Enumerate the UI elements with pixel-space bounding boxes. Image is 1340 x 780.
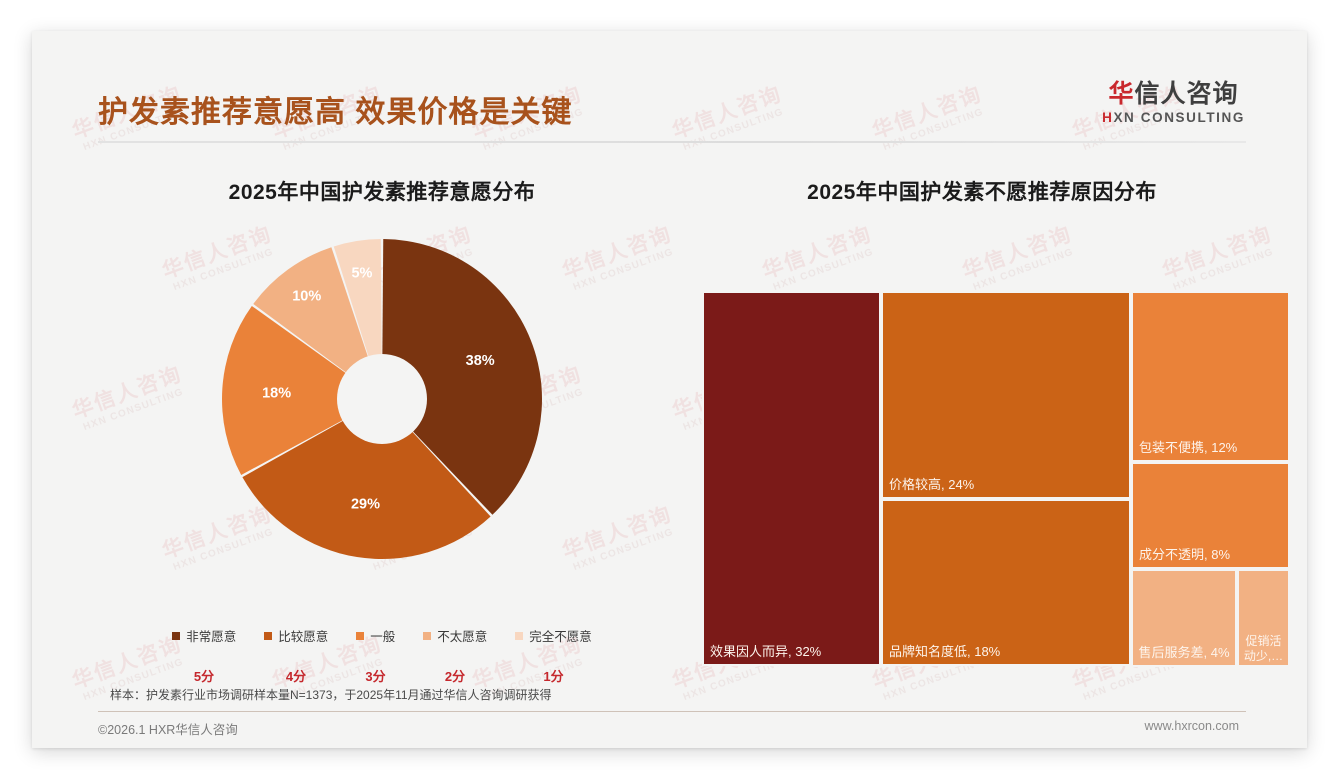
treemap-chart: 效果因人而异, 32%价格较高, 24%品牌知名度低, 18%包装不便携, 12… (702, 291, 1290, 666)
legend-item[interactable]: 比较愿意 (264, 626, 328, 645)
copyright-text: ©2026.1 HXR华信人咨询 (98, 719, 238, 738)
header-divider (98, 141, 1246, 143)
treemap-cell-label: 价格较高, 24% (889, 477, 1125, 493)
logo-en-h: H (1102, 110, 1113, 125)
right-chart-panel: 2025年中国护发素不愿推荐原因分布 效果因人而异, 32%价格较高, 24%品… (682, 176, 1282, 696)
sample-footnote: 样本：护发素行业市场调研样本量N=1373，于2025年11月通过华信人咨询调研… (110, 686, 552, 703)
treemap-cell[interactable]: 成分不透明, 8% (1131, 462, 1290, 569)
treemap-cell[interactable]: 促销活动少,… (1237, 569, 1290, 667)
legend-item[interactable]: 非常愿意 (172, 626, 236, 645)
score-row: 5分4分3分2分1分 (102, 666, 662, 685)
treemap-cell-label: 促销活动少,… (1241, 634, 1286, 663)
legend-swatch-icon (423, 632, 431, 640)
website-url[interactable]: www.hxrcon.com (1145, 719, 1239, 733)
legend-label: 完全不愿意 (529, 626, 592, 645)
donut-slice-label: 29% (351, 496, 380, 512)
slide-footer: ©2026.1 HXR华信人咨询 www.hxrcon.com (32, 719, 1307, 748)
treemap-cell[interactable]: 价格较高, 24% (881, 291, 1131, 499)
logo-char-hua: 华 (1109, 80, 1135, 108)
score-label: 2分 (423, 666, 487, 685)
donut-slice-label: 10% (292, 288, 321, 304)
legend-label: 不太愿意 (437, 626, 487, 645)
legend-swatch-icon (264, 632, 272, 640)
score-label: 3分 (356, 666, 395, 685)
left-chart-title: 2025年中国护发素推荐意愿分布 (102, 176, 662, 206)
legend-label: 非常愿意 (186, 626, 236, 645)
logo-english: HXN CONSULTING (1102, 110, 1245, 125)
legend-label: 比较愿意 (278, 626, 328, 645)
score-label: 1分 (515, 666, 592, 685)
treemap-cell-label: 效果因人而异, 32% (710, 644, 875, 660)
slide-header: 护发素推荐意愿高 效果价格是关键 华信人咨询 HXN CONSULTING (32, 31, 1307, 123)
donut-chart: 38%29%18%10%5% (102, 234, 662, 564)
legend-swatch-icon (515, 632, 523, 640)
brand-logo: 华信人咨询 HXN CONSULTING (1102, 81, 1245, 125)
right-chart-title: 2025年中国护发素不愿推荐原因分布 (682, 176, 1282, 206)
treemap-cell-label: 成分不透明, 8% (1139, 547, 1284, 563)
logo-chinese: 华信人咨询 (1102, 81, 1245, 108)
treemap-cell[interactable]: 品牌知名度低, 18% (881, 499, 1131, 666)
logo-en-rest: XN CONSULTING (1113, 110, 1245, 125)
legend-label: 一般 (370, 626, 395, 645)
legend-swatch-icon (356, 632, 364, 640)
donut-slice-label: 18% (262, 385, 291, 401)
treemap-cell-label: 包装不便携, 12% (1139, 440, 1284, 456)
donut-slice-label: 38% (466, 353, 495, 369)
treemap-cell[interactable]: 效果因人而异, 32% (702, 291, 881, 666)
legend-swatch-icon (172, 632, 180, 640)
donut-legend: 非常愿意比较愿意一般不太愿意完全不愿意 (102, 626, 662, 645)
donut-svg: 38%29%18%10%5% (214, 234, 550, 564)
score-label: 4分 (264, 666, 328, 685)
treemap-cell[interactable]: 售后服务差, 4% (1131, 569, 1237, 667)
legend-item[interactable]: 不太愿意 (423, 626, 487, 645)
treemap-cell-label: 品牌知名度低, 18% (889, 644, 1125, 660)
legend-item[interactable]: 一般 (356, 626, 395, 645)
score-label: 5分 (172, 666, 236, 685)
treemap-cell-label: 售后服务差, 4% (1135, 645, 1233, 661)
footer-divider (98, 711, 1246, 712)
donut-hole (337, 354, 427, 444)
donut-slice-label: 5% (351, 266, 372, 282)
slide-card: 华信人咨询HXN CONSULTING华信人咨询HXN CONSULTING华信… (32, 31, 1307, 748)
page-title: 护发素推荐意愿高 效果价格是关键 (98, 87, 572, 131)
legend-item[interactable]: 完全不愿意 (515, 626, 592, 645)
treemap-cell[interactable]: 包装不便携, 12% (1131, 291, 1290, 462)
left-chart-panel: 2025年中国护发素推荐意愿分布 38%29%18%10%5% 非常愿意比较愿意… (102, 176, 662, 696)
logo-chars-rest: 信人咨询 (1135, 80, 1239, 108)
